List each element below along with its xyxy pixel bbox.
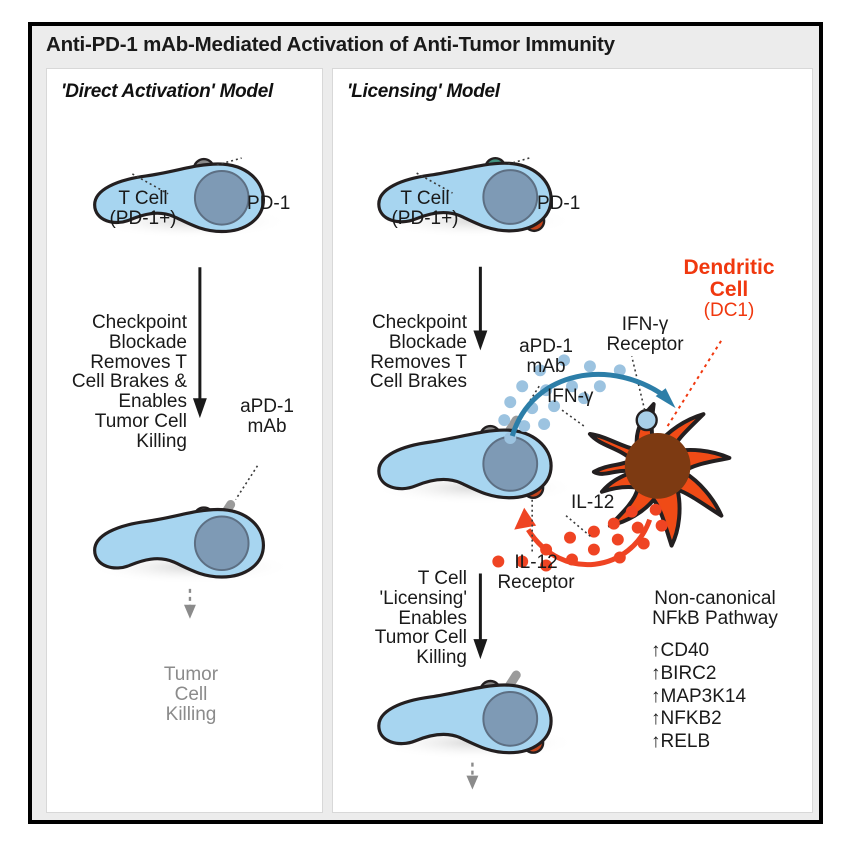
licensing-description: T Cell 'Licensing' Enables Tumor Cell Ki…	[337, 569, 467, 668]
figure-title-bar: Anti-PD-1 mAb-Mediated Activation of Ant…	[32, 26, 819, 64]
panel-licensing: 'Licensing' Model	[332, 68, 813, 813]
ifn-gamma-receptor-icon	[637, 410, 657, 430]
process-arrow-head	[193, 398, 207, 418]
process-arrow-head	[473, 330, 487, 350]
dendritic-cell-label: Dendritic Cell	[669, 257, 789, 301]
list-item: ↑NFKB2	[651, 709, 746, 729]
ifn-gamma-receptor-label: IFN-γ Receptor	[585, 315, 705, 355]
process-description: Checkpoint Blockade Removes T Cell Brake…	[53, 313, 187, 451]
list-item: ↑CD40	[651, 641, 746, 661]
pathway-title: Non-canonical NFkB Pathway	[621, 589, 809, 629]
tcell-label: T Cell (PD-1+)	[377, 189, 473, 229]
licensing-arrow-head	[473, 639, 487, 659]
leader-line-antibody	[236, 466, 258, 500]
process-description: Checkpoint Blockade Removes T Cell Brake…	[333, 313, 467, 392]
pd1-label: PD-1	[247, 194, 290, 214]
list-item: ↑MAP3K14	[651, 687, 746, 707]
outcome-arrow-head	[466, 776, 478, 790]
t-cell-nucleus	[483, 437, 537, 491]
antibody-label: aPD-1 mAb	[501, 337, 591, 377]
il12-receptor-label: IL-12 Receptor	[477, 553, 595, 593]
leader-line-ifn	[562, 410, 584, 426]
figure-canvas: Anti-PD-1 mAb-Mediated Activation of Ant…	[0, 0, 851, 847]
antibody-label: aPD-1 mAb	[222, 397, 312, 437]
page-title: Anti-PD-1 mAb-Mediated Activation of Ant…	[32, 33, 615, 57]
il12-label: IL-12	[571, 493, 614, 513]
pd1-label: PD-1	[537, 194, 580, 214]
figure-frame: Anti-PD-1 mAb-Mediated Activation of Ant…	[28, 22, 823, 824]
t-cell-nucleus	[483, 692, 537, 746]
pathway-gene-list: ↑CD40 ↑BIRC2 ↑MAP3K14 ↑NFKB2 ↑RELB	[651, 641, 746, 752]
t-cell-nucleus	[195, 516, 249, 570]
list-item: ↑BIRC2	[651, 664, 746, 684]
outcome-label: Tumor Cell Killing	[141, 665, 241, 724]
ifn-gamma-label: IFN-γ	[547, 387, 593, 407]
tcell-label: T Cell (PD-1+)	[95, 189, 191, 229]
list-item: ↑RELB	[651, 732, 746, 752]
outcome-arrow-head	[184, 605, 196, 619]
panel-direct-activation: 'Direct Activation' Model	[46, 68, 323, 813]
dendritic-cell-nucleus	[625, 433, 691, 499]
t-cell-nucleus	[483, 170, 537, 224]
t-cell-nucleus	[195, 171, 249, 225]
